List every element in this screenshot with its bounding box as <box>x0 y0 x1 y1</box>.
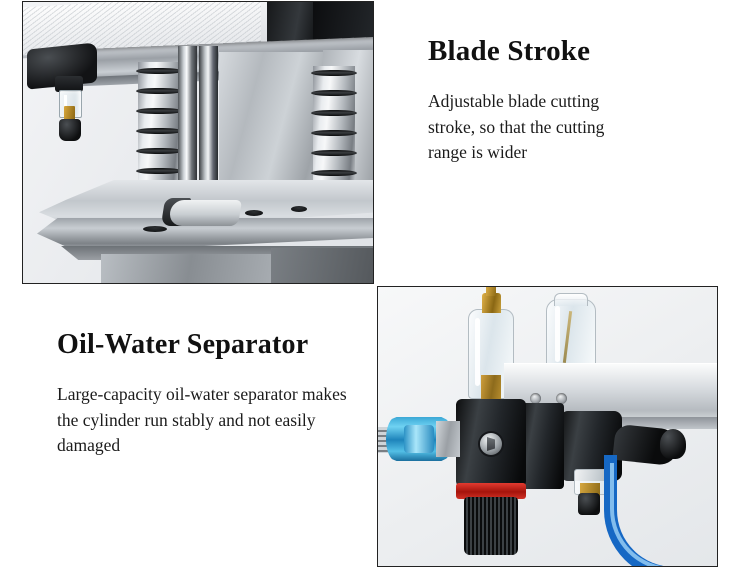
base-pedestal-icon <box>101 254 277 284</box>
feature-panel-blade-stroke: Blade Stroke Adjustable blade cutting st… <box>428 34 718 166</box>
feature-description-blade-stroke: Adjustable blade cutting stroke, so that… <box>428 89 643 166</box>
clear-lubricator-bowl-right-icon <box>546 299 596 373</box>
knurled-drain-knob-icon <box>464 497 518 555</box>
blue-air-hose-highlight-icon <box>610 463 718 567</box>
clamp-block-icon <box>168 200 242 226</box>
photo-blade-stroke <box>22 1 374 284</box>
bolt-hole-2-icon <box>291 206 307 212</box>
feature-collage: Blade Stroke Adjustable blade cutting st… <box>0 0 750 581</box>
small-drain-knob-icon <box>578 493 600 515</box>
brass-cap-icon <box>482 293 501 313</box>
chrome-screw-icon <box>480 433 502 455</box>
feature-title-oil-water-separator: Oil-Water Separator <box>57 328 357 361</box>
feature-description-oil-water-separator: Large-capacity oil-water separator makes… <box>57 382 349 459</box>
bolt-hole-3-icon <box>143 226 167 232</box>
base-pedestal-dark-icon <box>271 248 374 284</box>
bowl-neck-icon <box>554 293 588 306</box>
coil-spring-column-right-icon <box>313 66 355 198</box>
brass-nipple-icon <box>486 287 496 296</box>
bolt-hole-1-icon <box>245 210 263 216</box>
coil-spring-column-left-icon <box>138 62 180 192</box>
coupler-nut-icon <box>436 421 460 457</box>
photo-oil-water-separator <box>377 286 718 567</box>
brass-oiler-fitting-icon <box>64 106 75 120</box>
coupler-waist-icon <box>404 425 434 453</box>
oiler-knob-icon <box>59 119 81 141</box>
black-valve-body-mid-icon <box>520 403 564 489</box>
feature-title-blade-stroke: Blade Stroke <box>428 34 718 68</box>
feature-panel-oil-water-separator: Oil-Water Separator Large-capacity oil-w… <box>57 328 357 459</box>
